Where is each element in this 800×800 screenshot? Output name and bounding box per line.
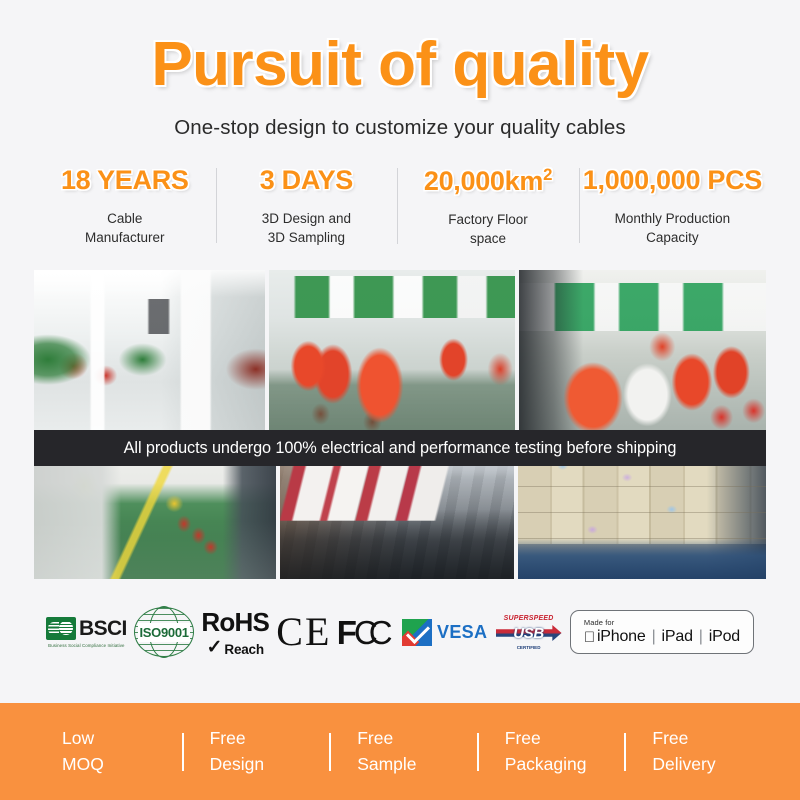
photo-gallery: All products undergo 100% electrical and… xyxy=(34,270,766,579)
hero-subtitle: One-stop design to customize your qualit… xyxy=(0,116,800,140)
stat-label-line2: Manufacturer xyxy=(85,230,165,245)
ce-e-glyph: E xyxy=(305,612,329,652)
stat-label-line2: space xyxy=(470,231,506,246)
page-title: Pursuit of quality xyxy=(0,34,800,96)
usb-superspeed-label: SUPERSPEED xyxy=(504,615,554,622)
photo-row-top xyxy=(34,270,766,430)
device-ipod-label: iPod xyxy=(709,628,740,646)
stat-value: 18 YEARS xyxy=(38,166,212,196)
feature-low-moq: Low MOQ xyxy=(34,726,176,777)
feature-line2: Design xyxy=(210,752,324,777)
photo-assembly-line-workers xyxy=(269,270,516,430)
stat-value: 20,000km2 xyxy=(401,166,575,197)
device-ipad-label: iPad xyxy=(662,628,693,646)
certification-logos-row: BSCI Business Social Compliance Initiati… xyxy=(34,597,766,667)
usb-arrow-icon: USB xyxy=(496,623,562,644)
feature-free-sample: Free Sample xyxy=(323,726,471,777)
feature-line1: Free xyxy=(652,726,766,751)
stat-label-line1: Monthly Production xyxy=(615,211,731,226)
stat-label: Cable Manufacturer xyxy=(38,209,212,247)
stat-value: 3 DAYS xyxy=(220,166,394,196)
usb-label: USB xyxy=(513,625,544,642)
bsci-label: BSCI xyxy=(79,617,127,641)
vesa-logo: VESA xyxy=(402,619,487,646)
feature-line1: Low xyxy=(62,726,176,751)
fcc-c2-glyph: C xyxy=(369,616,393,649)
fcc-f-glyph: F xyxy=(337,616,354,649)
vesa-checkmark-icon xyxy=(402,619,432,646)
made-for-apple-logo: Made for  iPhone | iPad | iPod xyxy=(570,610,754,654)
stat-label-line2: 3D Sampling xyxy=(268,230,345,245)
feature-line1: Free xyxy=(210,726,324,751)
feature-line2: Sample xyxy=(357,752,471,777)
feature-line1: Free xyxy=(505,726,619,751)
fcc-logo: F C C xyxy=(337,615,395,649)
feature-line2: Delivery xyxy=(652,752,766,777)
iso9001-logo: ISO9001 xyxy=(134,607,194,657)
ce-logo: C E xyxy=(276,612,329,652)
feature-free-packaging: Free Packaging xyxy=(471,726,619,777)
check-icon: ✓ xyxy=(206,639,222,656)
feature-line1: Free xyxy=(357,726,471,751)
stats-row: 18 YEARS Cable Manufacturer 3 DAYS 3D De… xyxy=(34,166,766,248)
ce-c-glyph: C xyxy=(276,612,303,652)
hero-section: Pursuit of quality One-stop design to cu… xyxy=(0,0,800,140)
stat-value-number: 20,000km xyxy=(424,166,543,196)
stat-label: Factory Floor space xyxy=(401,210,575,248)
device-iphone-label: iPhone xyxy=(597,628,646,646)
device-separator: | xyxy=(652,628,656,646)
photo-quality-inspection-bench xyxy=(519,270,766,430)
bsci-globe-icon xyxy=(46,617,76,640)
vesa-label: VESA xyxy=(437,622,487,643)
stat-label-line2: Capacity xyxy=(646,230,699,245)
bsci-logo: BSCI Business Social Compliance Initiati… xyxy=(46,617,127,648)
rohs-logo: RoHS ✓ Reach xyxy=(201,607,269,656)
stat-item-capacity: 1,000,000 PCS Monthly Production Capacit… xyxy=(579,166,766,247)
reach-label: Reach xyxy=(224,642,264,657)
stat-value-superscript: 2 xyxy=(543,165,552,184)
feature-line2: Packaging xyxy=(505,752,619,777)
stat-label: Monthly Production Capacity xyxy=(583,209,762,247)
apple-icon:  xyxy=(584,629,595,646)
bsci-subtitle: Business Social Compliance Initiative xyxy=(48,643,124,648)
stat-item-floor-space: 20,000km2 Factory Floor space xyxy=(397,166,579,248)
feature-free-delivery: Free Delivery xyxy=(618,726,766,777)
device-separator: | xyxy=(699,628,703,646)
photo-factory-floor-overview xyxy=(34,270,265,430)
stat-label-line1: Cable xyxy=(107,211,142,226)
made-for-label: Made for xyxy=(584,618,740,627)
stat-label-line1: Factory Floor xyxy=(448,212,528,227)
feature-line2: MOQ xyxy=(62,752,176,777)
iso-label: ISO9001 xyxy=(138,623,189,642)
testing-banner: All products undergo 100% electrical and… xyxy=(34,430,766,466)
superspeed-usb-logo: SUPERSPEED USB CERTIFIED xyxy=(495,611,563,653)
stat-item-years: 18 YEARS Cable Manufacturer xyxy=(34,166,216,247)
rohs-label: RoHS xyxy=(201,607,269,638)
service-features-bar: Low MOQ Free Design Free Sample Free Pac… xyxy=(0,703,800,800)
stat-value: 1,000,000 PCS xyxy=(583,166,762,196)
usb-certified-label: CERTIFIED xyxy=(517,645,541,650)
feature-free-design: Free Design xyxy=(176,726,324,777)
stat-label: 3D Design and 3D Sampling xyxy=(220,209,394,247)
stat-item-days: 3 DAYS 3D Design and 3D Sampling xyxy=(216,166,398,247)
stat-label-line1: 3D Design and xyxy=(262,211,351,226)
